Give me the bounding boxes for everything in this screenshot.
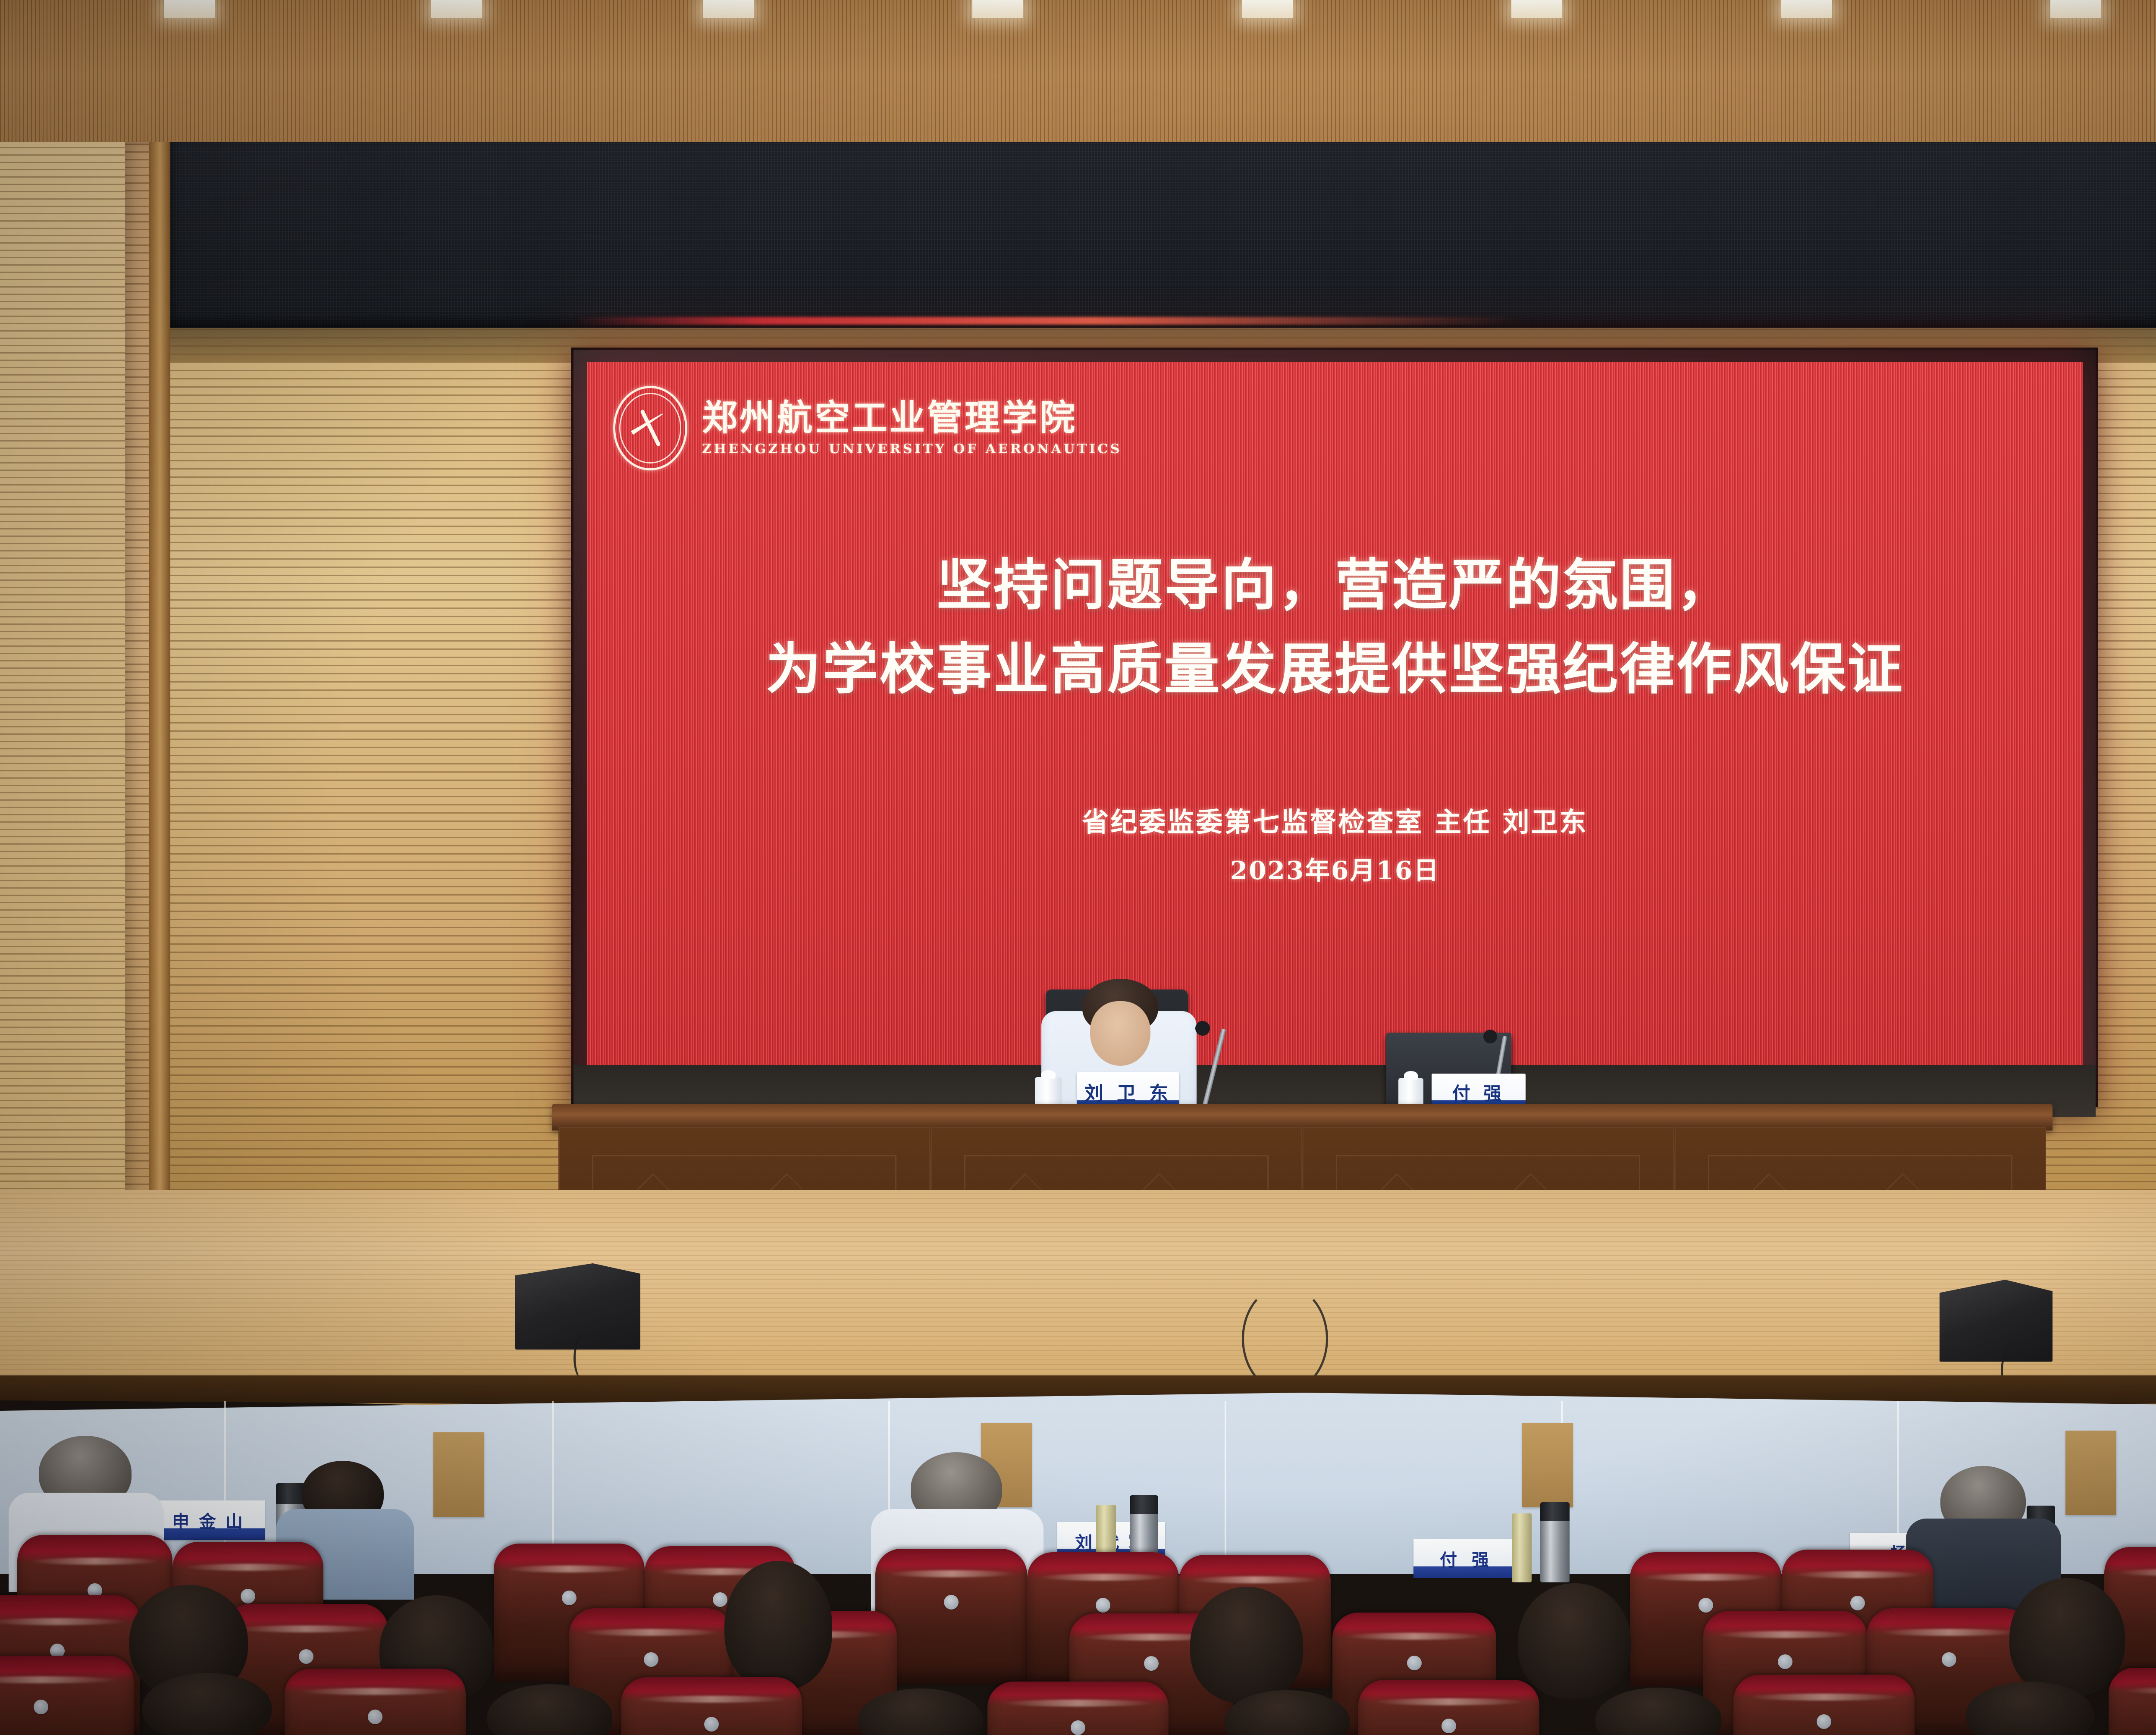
audience-seat[interactable] [875, 1549, 1027, 1684]
head-table-top [552, 1104, 2053, 1131]
thermos-cap [1130, 1495, 1158, 1514]
acoustic-panel-band [170, 142, 2156, 328]
auditorium-scene: 郑州航空工业管理学院 ZHENGZHOU UNIVERSITY OF AERON… [0, 0, 2156, 1735]
slide-title: 坚持问题导向，营造严的氛围， 为学校事业高质量发展提供坚强纪律作风保证 [587, 543, 2083, 711]
audience-person-head [724, 1561, 832, 1690]
audience-person-head [1190, 1587, 1303, 1703]
apron-accent-panel [1522, 1423, 1573, 1507]
apron-accent-panel [433, 1432, 484, 1517]
slide-title-line-2: 为学校事业高质量发展提供坚强纪律作风保证 [587, 627, 2083, 711]
microphone-head-right [1483, 1030, 1497, 1043]
ceiling-light [1781, 0, 1832, 18]
thermos-cap [1540, 1502, 1570, 1521]
thermos [1540, 1514, 1570, 1582]
university-seal-icon [613, 386, 687, 470]
audience-seat[interactable] [1358, 1680, 1539, 1735]
audience-seat[interactable] [285, 1669, 466, 1735]
slide-title-line-1: 坚持问题导向，营造严的氛围， [587, 543, 2083, 627]
apron-seam [1225, 1401, 1226, 1574]
university-logo: 郑州航空工业管理学院 ZHENGZHOU UNIVERSITY OF AERON… [613, 386, 1122, 470]
audience-seat[interactable] [621, 1677, 802, 1735]
audience-seat[interactable] [0, 1656, 134, 1735]
ceiling-light [1511, 0, 1562, 18]
audience-name-card: 付 强 [1413, 1539, 1520, 1578]
thermos-cap [276, 1483, 305, 1504]
stage-monitor-speaker-right [1940, 1280, 2053, 1362]
speaker-face [1090, 1001, 1150, 1066]
stage-monitor-speaker-left [515, 1263, 640, 1350]
audience-person-head [1518, 1583, 1631, 1699]
audience-seat[interactable] [1733, 1675, 1915, 1735]
ceiling-light [164, 0, 215, 18]
ceiling-light [2050, 0, 2101, 18]
ceiling-light [1242, 0, 1293, 18]
ceiling-light [703, 0, 754, 18]
ceiling-light [972, 0, 1023, 18]
water-bottle [1512, 1513, 1532, 1582]
slide-speaker-line: 省纪委监委第七监督检查室 主任 刘卫东 [587, 800, 2083, 839]
audience-person-head [2009, 1578, 2125, 1697]
aircraft-icon [622, 400, 679, 457]
led-screen[interactable]: 郑州航空工业管理学院 ZHENGZHOU UNIVERSITY OF AERON… [587, 362, 2083, 1091]
ceiling-light [431, 0, 482, 18]
logo-name-cn: 郑州航空工业管理学院 [702, 400, 1122, 435]
audience-seat[interactable] [987, 1682, 1169, 1735]
logo-name-en: ZHENGZHOU UNIVERSITY OF AERONAUTICS [702, 442, 1122, 457]
screen-top-glow [573, 317, 1522, 325]
audience-name-card: 申 金 山 [152, 1500, 265, 1540]
apron-accent-panel [2065, 1431, 2116, 1515]
left-pillar [149, 142, 171, 1345]
microphone-head-left [1195, 1021, 1210, 1036]
slide-date-line: 2023年6月16日 [587, 850, 2083, 886]
audience-seat[interactable] [2109, 1668, 2156, 1735]
audience-person-head [1595, 1688, 1721, 1735]
